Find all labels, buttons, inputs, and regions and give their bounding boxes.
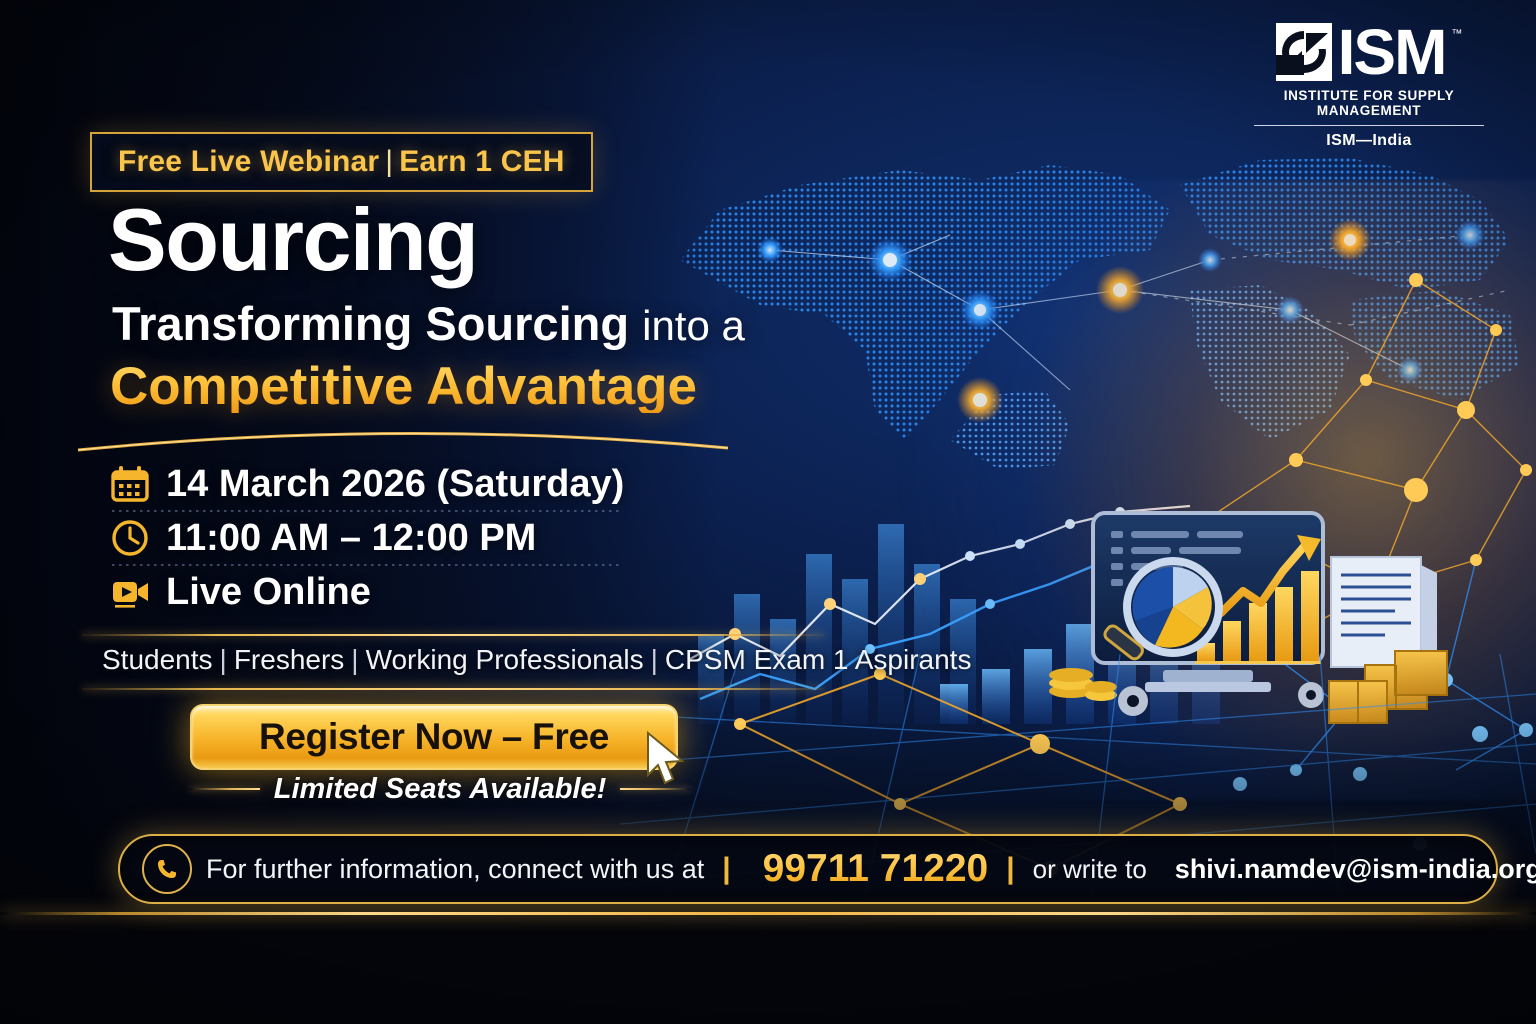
phone-circle-icon xyxy=(142,844,192,894)
subtitle-bold: Transforming Sourcing xyxy=(112,297,629,350)
audience-item-2: Working Professionals xyxy=(366,644,644,675)
badge-separator: | xyxy=(379,145,399,178)
limited-seats-note: Limited Seats Available! xyxy=(190,772,690,806)
ism-logo: ISM ™ INSTITUTE FOR SUPPLY MANAGEMENT IS… xyxy=(1244,22,1494,150)
contact-write-label: or write to xyxy=(1033,854,1147,885)
video-camera-icon xyxy=(110,572,150,612)
subtitle-line: Transforming Sourcing into a xyxy=(112,300,745,347)
clock-icon xyxy=(110,518,150,558)
audience-item-1: Freshers xyxy=(234,644,344,675)
audience-sep-2: | xyxy=(644,644,665,675)
logo-region: ISM—India xyxy=(1244,132,1494,150)
logo-wordmark: ISM xyxy=(1338,22,1446,83)
detail-dotted-divider-2 xyxy=(112,564,622,566)
gold-curve-divider xyxy=(78,420,728,458)
seats-text: Limited Seats Available! xyxy=(274,773,607,806)
bottom-band xyxy=(0,904,1536,1024)
audience-sep-1: | xyxy=(344,644,365,675)
ism-mark-icon xyxy=(1276,23,1332,81)
bottom-gold-glow-line xyxy=(0,912,1536,915)
webinar-badge: Free Live Webinar|Earn 1 CEH xyxy=(90,132,593,192)
detail-row-date: 14 March 2026 (Saturday) xyxy=(110,458,730,510)
webinar-promo-banner: ISM ™ INSTITUTE FOR SUPPLY MANAGEMENT IS… xyxy=(0,0,1536,1024)
detail-row-time: 11:00 AM – 12:00 PM xyxy=(110,512,730,564)
contact-email-address[interactable]: shivi.namdev@ism-india.org xyxy=(1175,854,1536,885)
detail-text-date: 14 March 2026 (Saturday) xyxy=(166,463,624,506)
detail-dotted-divider-1 xyxy=(112,510,622,512)
register-button-label: Register Now – Free xyxy=(259,716,609,758)
audience-rule-bottom xyxy=(82,688,824,690)
seats-rule-left xyxy=(190,788,260,790)
contact-divider-2: | xyxy=(1002,852,1018,886)
headline-accent: Competitive Advantage xyxy=(110,360,697,413)
audience-sep-0: | xyxy=(213,644,234,675)
contact-bar: For further information, connect with us… xyxy=(118,834,1498,904)
badge-right-label: Earn 1 CEH xyxy=(399,145,564,178)
calendar-icon xyxy=(110,464,150,504)
event-details-list: 14 March 2026 (Saturday) 11:00 AM – 12:0… xyxy=(110,458,730,618)
contact-intro-text: For further information, connect with us… xyxy=(206,854,704,885)
audience-item-3: CPSM Exam 1 Aspirants xyxy=(665,644,972,675)
detail-row-format: Live Online xyxy=(110,566,730,618)
audience-list: Students|Freshers|Working Professionals|… xyxy=(102,644,971,676)
phone-icon xyxy=(155,857,179,881)
detail-text-time: 11:00 AM – 12:00 PM xyxy=(166,517,536,560)
page-title: Sourcing xyxy=(108,196,477,284)
contact-phone-number[interactable]: 99711 71220 xyxy=(763,847,989,891)
audience-rule-top xyxy=(82,634,824,636)
seats-rule-right xyxy=(620,788,690,790)
register-now-button[interactable]: Register Now – Free xyxy=(190,704,678,770)
subtitle-thin: into a xyxy=(642,302,745,349)
trademark-symbol: ™ xyxy=(1451,28,1462,40)
detail-text-format: Live Online xyxy=(166,571,371,614)
logo-tagline: INSTITUTE FOR SUPPLY MANAGEMENT xyxy=(1244,88,1494,118)
contact-divider-1: | xyxy=(718,852,734,886)
logo-divider xyxy=(1254,125,1484,126)
badge-left-label: Free Live Webinar xyxy=(118,145,379,178)
audience-item-0: Students xyxy=(102,644,213,675)
